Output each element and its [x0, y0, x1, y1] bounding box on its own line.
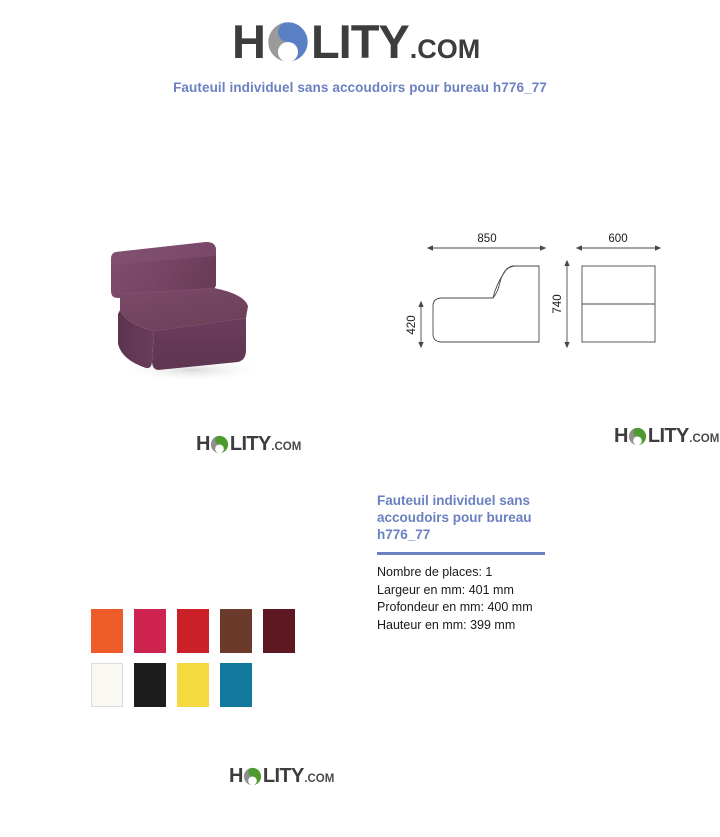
product-info-panel: Fauteuil individuel sans accoudoirs pour…	[377, 492, 577, 634]
spec-largeur: Largeur en mm: 401 mm	[377, 582, 577, 600]
watermark-logo-photo: H LITY .COM	[196, 434, 301, 454]
logo-letter-h: H	[232, 18, 265, 65]
color-swatch-red[interactable]	[177, 609, 209, 653]
product-photo	[96, 232, 286, 392]
watermark-dotcom: .COM	[689, 434, 719, 446]
logo-letters-lity: LITY	[311, 18, 409, 65]
site-logo[interactable]: H LITY .COM	[232, 18, 480, 65]
color-swatch-grid	[91, 609, 306, 717]
watermark-logo-technical: H LITY .COM	[614, 426, 719, 446]
watermark-logo-footer: H LITY .COM	[229, 766, 334, 786]
color-swatch-row-2	[91, 663, 306, 707]
color-swatch-black[interactable]	[134, 663, 166, 707]
holity-circle-icon	[210, 435, 229, 454]
watermark-letters-lity: LITY	[230, 434, 271, 454]
color-swatch-magenta-pink[interactable]	[134, 609, 166, 653]
watermark-letter-h: H	[229, 766, 243, 786]
spec-profondeur: Profondeur en mm: 400 mm	[377, 599, 577, 617]
page-header: H LITY .COM	[0, 0, 720, 72]
watermark-letter-h: H	[614, 426, 628, 446]
color-swatch-cream-white[interactable]	[91, 663, 123, 707]
holity-circle-icon	[628, 427, 647, 446]
watermark-dotcom: .COM	[304, 774, 334, 786]
watermark-dotcom: .COM	[271, 442, 301, 454]
color-swatch-row-1	[91, 609, 306, 653]
dimension-label-740: 740	[552, 294, 564, 313]
dimension-label-850: 850	[477, 233, 496, 245]
technical-drawing: 850 420 600 740	[400, 222, 680, 362]
logo-dotcom: .COM	[410, 36, 481, 63]
holity-circle-icon	[266, 20, 310, 64]
info-divider	[377, 552, 545, 555]
color-swatch-teal[interactable]	[220, 663, 252, 707]
watermark-letters-lity: LITY	[648, 426, 689, 446]
watermark-letters-lity: LITY	[263, 766, 304, 786]
color-swatch-orange[interactable]	[91, 609, 123, 653]
dimension-label-420: 420	[406, 315, 418, 334]
watermark-letter-h: H	[196, 434, 210, 454]
spec-nombre-de-places: Nombre de places: 1	[377, 564, 577, 582]
dimension-label-600: 600	[608, 233, 627, 245]
holity-circle-icon	[243, 767, 262, 786]
page-title: Fauteuil individuel sans accoudoirs pour…	[0, 80, 720, 95]
spec-hauteur: Hauteur en mm: 399 mm	[377, 617, 577, 635]
color-swatch-dark-burgundy[interactable]	[263, 609, 295, 653]
product-info-title: Fauteuil individuel sans accoudoirs pour…	[377, 492, 577, 543]
color-swatch-yellow[interactable]	[177, 663, 209, 707]
color-swatch-brown[interactable]	[220, 609, 252, 653]
